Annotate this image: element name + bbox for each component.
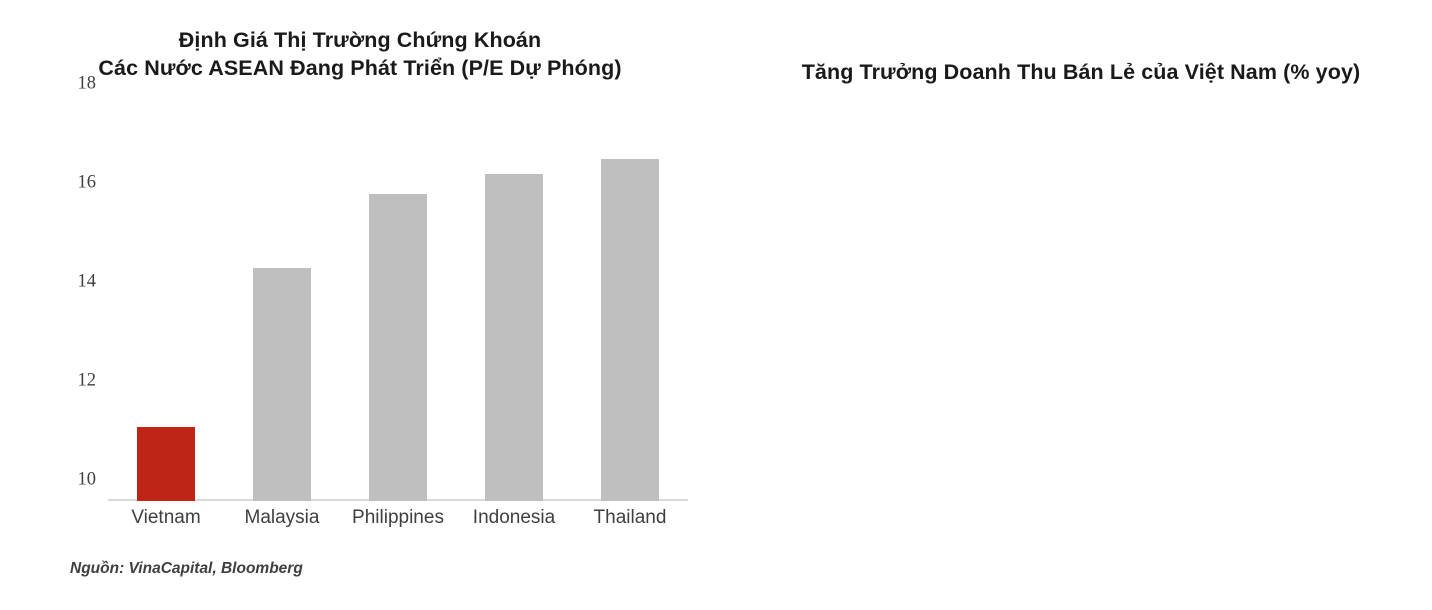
x-label-malaysia: Malaysia [224,505,340,531]
x-label-vietnam: Vietnam [108,505,224,531]
bar-slot-indonesia [456,105,572,501]
bar-slot-thailand [572,105,688,501]
bar-indonesia[interactable] [485,174,543,501]
chart-panel-retail-sales: Tăng Trưởng Doanh Thu Bán Lẻ của Việt Na… [716,0,1432,610]
bar-malaysia[interactable] [253,268,311,501]
y-tick-left-18: 18 [78,74,97,95]
bar-series-left [108,105,688,501]
y-tick-left-12: 12 [78,371,97,392]
y-tick-left-14: 14 [78,272,97,293]
bar-vietnam[interactable] [137,427,195,501]
bar-slot-philippines [340,105,456,501]
bar-slot-malaysia [224,105,340,501]
y-tick-left-16: 16 [78,173,97,194]
x-axis-labels-left: Vietnam Malaysia Philippines Indonesia T… [108,505,688,531]
chart-title-line-2: Các Nước ASEAN Đang Phát Triển (P/E Dự P… [30,54,690,82]
plot-area-left: 18 16 14 12 10 [108,105,688,501]
y-tick-left-10: 10 [78,470,97,491]
chart-title-line-1: Định Giá Thị Trường Chứng Khoán [30,26,690,54]
bar-philippines[interactable] [369,194,427,501]
page-title-right: Tăng Trưởng Doanh Thu Bán Lẻ của Việt Na… [736,58,1426,86]
chart-panel-valuation: Định Giá Thị Trường Chứng Khoán Các Nước… [0,0,716,610]
bar-thailand[interactable] [601,159,659,501]
chart-title-right-line-1: Tăng Trưởng Doanh Thu Bán Lẻ của Việt Na… [736,58,1426,86]
x-label-philippines: Philippines [340,505,456,531]
x-label-indonesia: Indonesia [456,505,572,531]
page-title-left: Định Giá Thị Trường Chứng Khoán Các Nước… [30,26,690,83]
source-note: Nguồn: VinaCapital, Bloomberg [70,560,303,578]
bar-slot-vietnam [108,105,224,501]
x-label-thailand: Thailand [572,505,688,531]
slide-canvas: Định Giá Thị Trường Chứng Khoán Các Nước… [0,0,1432,610]
